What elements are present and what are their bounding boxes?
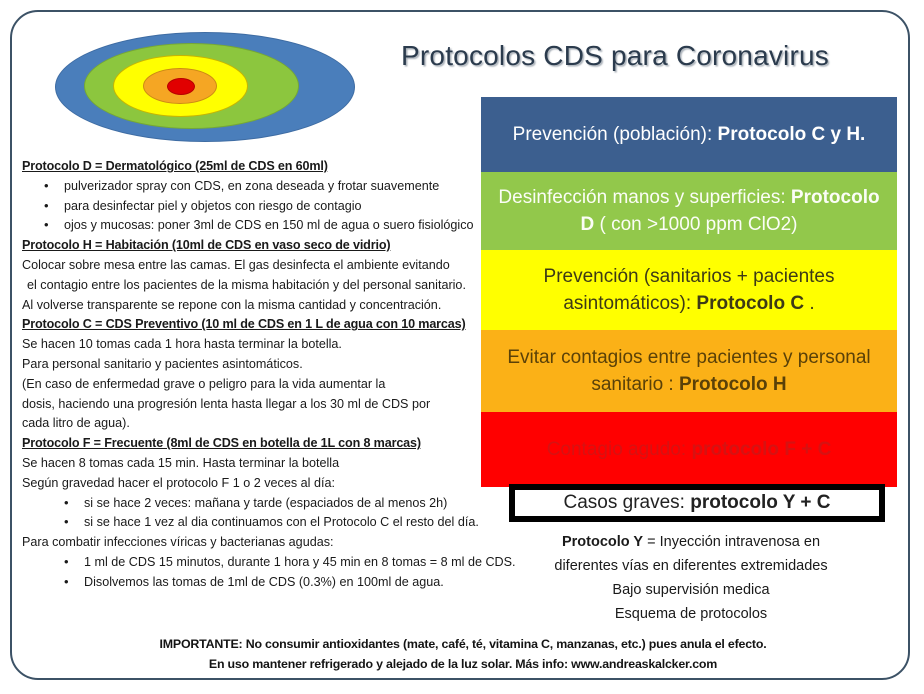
protocol-c-line: cada litro de agua). bbox=[22, 414, 477, 434]
bar-text-strong: Protocolo H bbox=[679, 374, 787, 395]
protocol-d-heading: Protocolo D = Dermatológico (25ml de CDS… bbox=[22, 157, 477, 177]
left-text-column: Protocolo D = Dermatológico (25ml de CDS… bbox=[22, 157, 477, 593]
infographic-page: Protocolos CDS para Coronavirus Protocol… bbox=[0, 0, 924, 694]
severity-bar-evitar-contagios: Evitar contagios entre pacientes y perso… bbox=[481, 330, 897, 412]
ellipse-red-center bbox=[167, 78, 195, 95]
protocol-h-line: Al volverse transparente se repone con l… bbox=[22, 296, 477, 316]
severity-bar-contagio-agudo: Contagio agudo: protocolo F + C bbox=[481, 412, 897, 487]
bar-text-suffix: . bbox=[804, 293, 815, 314]
protocol-h-heading: Protocolo H = Habitación (10ml de CDS en… bbox=[22, 236, 477, 256]
bar-text-strong: Protocolo C bbox=[696, 293, 804, 314]
protocol-y-line-2: diferentes vías en diferentes extremidad… bbox=[481, 554, 901, 578]
footer-line-2: En uso mantener refrigerado y alejado de… bbox=[40, 654, 886, 674]
protocol-f-bullet: si se hace 1 vez al dia continuamos con … bbox=[22, 513, 477, 533]
bar-text-prefix: Prevención (población): bbox=[513, 124, 718, 145]
bar-text-strong: protocolo F + C bbox=[691, 439, 831, 460]
footer-line-1: IMPORTANTE: No consumir antioxidantes (m… bbox=[40, 634, 886, 654]
protocol-c-line: Se hacen 10 tomas cada 1 hora hasta term… bbox=[22, 335, 477, 355]
protocol-c-line: dosis, haciendo una progresión lenta has… bbox=[22, 395, 477, 415]
concentric-ellipses-logo bbox=[55, 32, 355, 142]
protocol-d-bullet: para desinfectar piel y objetos con ries… bbox=[22, 197, 477, 217]
casos-graves-prefix: Casos graves: bbox=[564, 492, 691, 513]
protocol-h-line: el contagio entre los pacientes de la mi… bbox=[22, 276, 477, 296]
protocol-f-heading: Protocolo F = Frecuente (8ml de CDS en b… bbox=[22, 434, 477, 454]
casos-graves-box: Casos graves: protocolo Y + C bbox=[509, 484, 885, 522]
protocol-c-heading: Protocolo C = CDS Preventivo (10 ml de C… bbox=[22, 315, 477, 335]
protocol-f-bullet: 1 ml de CDS 15 minutos, durante 1 hora y… bbox=[22, 553, 477, 573]
protocol-y-line-1: Protocolo Y = Inyección intravenosa en bbox=[481, 530, 901, 554]
bar-text-prefix: Desinfección manos y superficies: bbox=[498, 187, 791, 208]
severity-bar-desinfeccion: Desinfección manos y superficies: Protoc… bbox=[481, 172, 897, 250]
severity-bar-prevencion-poblacion: Prevención (población): Protocolo C y H. bbox=[481, 97, 897, 172]
protocol-y-desc: = Inyección intravenosa en bbox=[643, 534, 820, 550]
protocol-f-line: Según gravedad hacer el protocolo F 1 o … bbox=[22, 474, 477, 494]
bar-text-strong: Protocolo C y H. bbox=[718, 124, 866, 145]
page-title: Protocolos CDS para Coronavirus bbox=[370, 40, 860, 72]
protocol-y-note: Protocolo Y = Inyección intravenosa en d… bbox=[481, 530, 901, 626]
protocol-y-line-3: Bajo supervisión medica bbox=[481, 578, 901, 602]
protocol-c-line: (En caso de enfermedad grave o peligro p… bbox=[22, 375, 477, 395]
protocol-f-bullet: si se hace 2 veces: mañana y tarde (espa… bbox=[22, 494, 477, 514]
protocol-f-line: Se hacen 8 tomas cada 15 min. Hasta term… bbox=[22, 454, 477, 474]
protocol-c-line: Para personal sanitario y pacientes asin… bbox=[22, 355, 477, 375]
bar-text-suffix: ( con >1000 ppm ClO2) bbox=[594, 214, 797, 235]
footer-important-note: IMPORTANTE: No consumir antioxidantes (m… bbox=[40, 634, 886, 674]
protocol-y-line-4: Esquema de protocolos bbox=[481, 602, 901, 626]
bar-text-prefix: Contagio agudo: bbox=[547, 439, 692, 460]
protocol-f-line: Para combatir infecciones víricas y bact… bbox=[22, 533, 477, 553]
protocol-d-bullet: ojos y mucosas: poner 3ml de CDS en 150 … bbox=[22, 216, 477, 236]
severity-bar-prevencion-sanitarios: Prevención (sanitarios + pacientes asint… bbox=[481, 250, 897, 330]
protocol-y-label: Protocolo Y bbox=[562, 534, 643, 550]
protocol-h-line: Colocar sobre mesa entre las camas. El g… bbox=[22, 256, 477, 276]
casos-graves-strong: protocolo Y + C bbox=[690, 492, 830, 513]
protocol-d-bullet: pulverizador spray con CDS, en zona dese… bbox=[22, 177, 477, 197]
protocol-f-bullet: Disolvemos las tomas de 1ml de CDS (0.3%… bbox=[22, 573, 477, 593]
